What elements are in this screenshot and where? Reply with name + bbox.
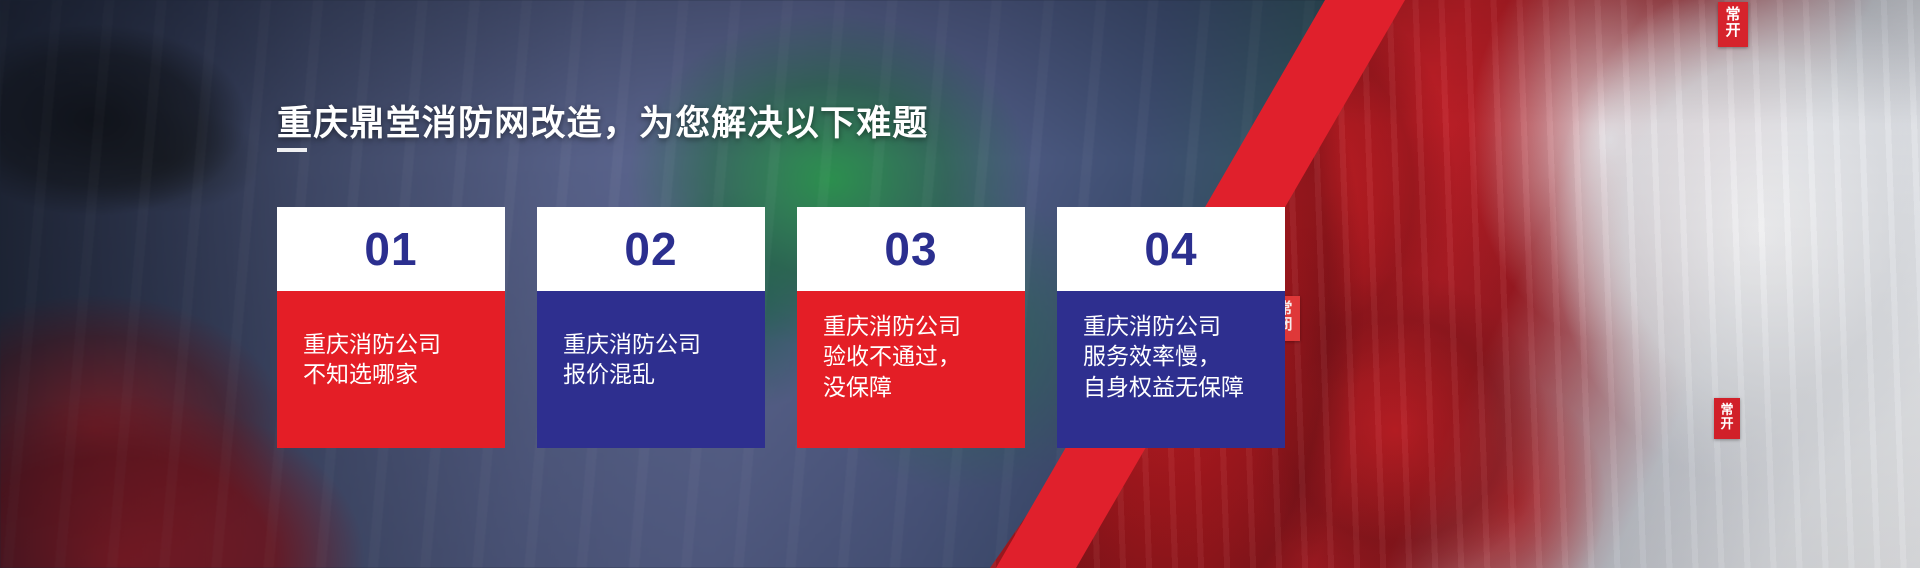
banner-headline: 重庆鼎堂消防网改造，为您解决以下难题 (277, 95, 929, 146)
card-number-1: 01 (277, 207, 505, 291)
banner-content: 重庆鼎堂消防网改造，为您解决以下难题 01 重庆消防公司 不知选哪家 02 重庆… (0, 0, 1920, 568)
card-text-2: 重庆消防公司 报价混乱 (537, 291, 765, 448)
problem-card-list: 01 重庆消防公司 不知选哪家 02 重庆消防公司 报价混乱 03 重庆消防公司… (277, 207, 1285, 448)
card-number-3: 03 (797, 207, 1025, 291)
card-text-1: 重庆消防公司 不知选哪家 (277, 291, 505, 448)
headline-underline-rule (277, 148, 307, 152)
card-number-2: 02 (537, 207, 765, 291)
card-number-4: 04 (1057, 207, 1285, 291)
card-text-3: 重庆消防公司 验收不通过， 没保障 (797, 291, 1025, 448)
problem-card-1[interactable]: 01 重庆消防公司 不知选哪家 (277, 207, 505, 448)
card-text-4: 重庆消防公司 服务效率慢， 自身权益无保障 (1057, 291, 1285, 448)
problem-card-3[interactable]: 03 重庆消防公司 验收不通过， 没保障 (797, 207, 1025, 448)
problem-card-2[interactable]: 02 重庆消防公司 报价混乱 (537, 207, 765, 448)
problem-card-4[interactable]: 04 重庆消防公司 服务效率慢， 自身权益无保障 (1057, 207, 1285, 448)
promo-banner: 常 开 常 闭 常 开 重庆鼎堂消防网改造，为您解决以下难题 01 重庆消防公司… (0, 0, 1920, 568)
